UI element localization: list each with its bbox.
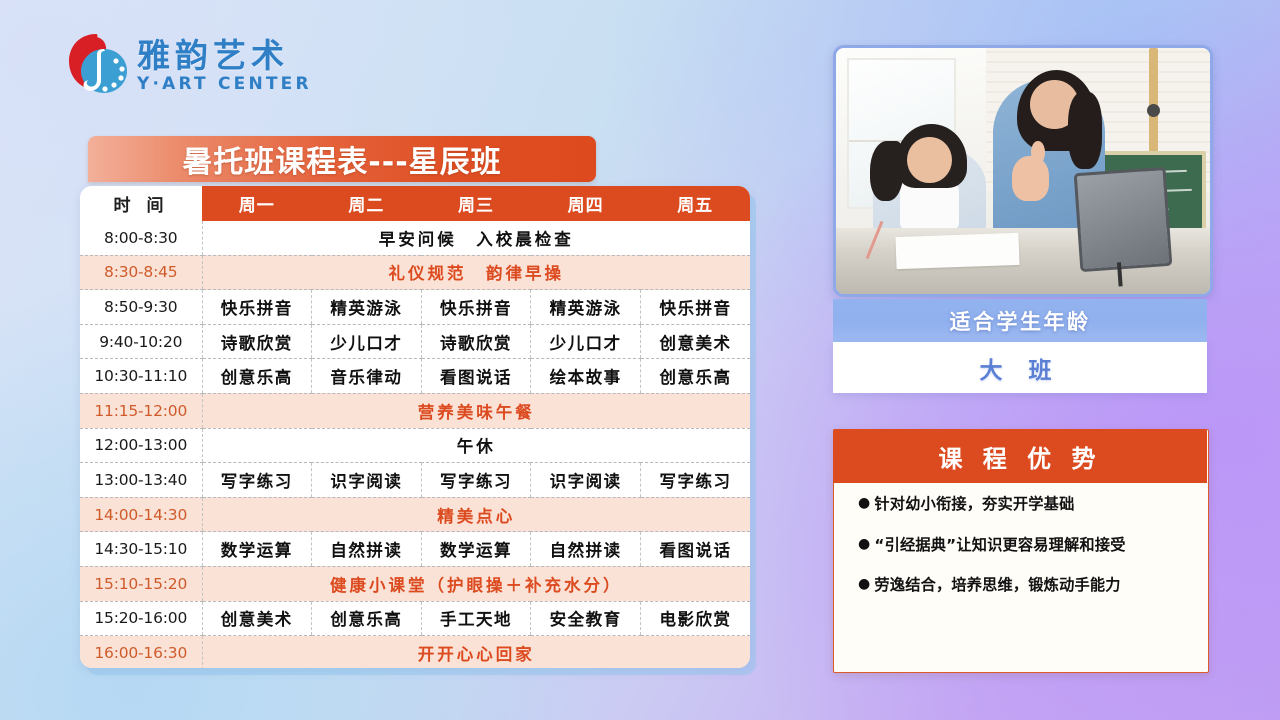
classroom-photo: [833, 45, 1213, 297]
photo-easel-pole: [1149, 48, 1158, 156]
schedule-card: 时 间 周一 周二 周三 周四 周五 8:00-8:30早安问候 入校晨检查8:…: [80, 186, 750, 668]
schedule-time-cell: 14:30-15:10: [80, 532, 202, 567]
schedule-time-cell: 8:50-9:30: [80, 290, 202, 325]
table-row: 13:00-13:40写字练习识字阅读写字练习识字阅读写字练习: [80, 463, 750, 498]
schedule-merged-cell: 礼仪规范 韵律早操: [202, 255, 750, 290]
advantage-item: ●劳逸结合，培养思维，锻炼动手能力: [858, 575, 1184, 596]
schedule-subject-cell: 写字练习: [421, 463, 531, 498]
schedule-subject-cell: 自然拼读: [312, 532, 422, 567]
photo-teacher-hair-side: [1068, 92, 1102, 168]
schedule-subject-cell: 少儿口才: [312, 324, 422, 359]
table-row: 10:30-11:10创意乐高音乐律动看图说话绘本故事创意乐高: [80, 359, 750, 394]
brand-name-cn: 雅韵艺术: [137, 39, 312, 72]
schedule-time-cell: 13:00-13:40: [80, 463, 202, 498]
schedule-time-cell: 14:00-14:30: [80, 497, 202, 532]
schedule-subject-cell: 绘本故事: [531, 359, 641, 394]
schedule-subject-cell: 诗歌欣赏: [202, 324, 312, 359]
table-row: 11:15-12:00营养美味午餐: [80, 393, 750, 428]
bullet-icon: ●: [858, 535, 870, 554]
schedule-merged-cell: 精美点心: [202, 497, 750, 532]
table-row: 8:50-9:30快乐拼音精英游泳快乐拼音精英游泳快乐拼音: [80, 290, 750, 325]
column-header-tue: 周二: [312, 186, 422, 221]
schedule-subject-cell: 快乐拼音: [640, 290, 750, 325]
table-row: 14:00-14:30精美点心: [80, 497, 750, 532]
table-row: 14:30-15:10数学运算自然拼读数学运算自然拼读看图说话: [80, 532, 750, 567]
brand-logo: 雅韵艺术 Y·ART CENTER: [66, 31, 312, 101]
table-row: 12:00-13:00午休: [80, 428, 750, 463]
schedule-subject-cell: 自然拼读: [531, 532, 641, 567]
photo-paper: [895, 233, 1019, 269]
schedule-time-cell: 12:00-13:00: [80, 428, 202, 463]
schedule-subject-cell: 看图说话: [421, 359, 531, 394]
schedule-subject-cell: 少儿口才: [531, 324, 641, 359]
schedule-time-cell: 11:15-12:00: [80, 393, 202, 428]
schedule-time-cell: 8:30-8:45: [80, 255, 202, 290]
table-row: 8:00-8:30早安问候 入校晨检查: [80, 221, 750, 255]
column-header-thu: 周四: [531, 186, 641, 221]
advantage-item-text: “引经据典”让知识更容易理解和接受: [874, 535, 1125, 556]
poster-title-banner: 暑托班课程表---星辰班: [88, 136, 596, 182]
schedule-subject-cell: 电影欣赏: [640, 601, 750, 636]
poster-canvas: 雅韵艺术 Y·ART CENTER 暑托班课程表---星辰班 时 间 周一 周二…: [0, 0, 1280, 720]
music-note-palette-logo-icon: [66, 31, 128, 101]
schedule-subject-cell: 写字练习: [640, 463, 750, 498]
schedule-subject-cell: 安全教育: [531, 601, 641, 636]
schedule-subject-cell: 创意美术: [202, 601, 312, 636]
advantages-title: 课 程 优 势: [938, 439, 1101, 474]
schedule-merged-cell: 营养美味午餐: [202, 393, 750, 428]
column-header-time: 时 间: [80, 186, 202, 221]
table-header-row: 时 间 周一 周二 周三 周四 周五: [80, 186, 750, 221]
bullet-icon: ●: [858, 494, 870, 513]
table-row: 15:10-15:20健康小课堂（护眼操＋补充水分）: [80, 566, 750, 601]
schedule-subject-cell: 写字练习: [202, 463, 312, 498]
photo-tablet: [1074, 167, 1173, 273]
brand-name-en: Y·ART CENTER: [137, 76, 312, 93]
schedule-merged-cell: 早安问候 入校晨检查: [202, 221, 750, 255]
schedule-subject-cell: 诗歌欣赏: [421, 324, 531, 359]
schedule-subject-cell: 手工天地: [421, 601, 531, 636]
schedule-merged-cell: 午休: [202, 428, 750, 463]
schedule-subject-cell: 快乐拼音: [202, 290, 312, 325]
bullet-icon: ●: [858, 575, 870, 594]
table-row: 8:30-8:45礼仪规范 韵律早操: [80, 255, 750, 290]
schedule-subject-cell: 数学运算: [421, 532, 531, 567]
schedule-subject-cell: 创意乐高: [202, 359, 312, 394]
schedule-subject-cell: 创意乐高: [312, 601, 422, 636]
advantages-list: ●针对幼小衔接，夯实开学基础●“引经据典”让知识更容易理解和接受●劳逸结合，培养…: [834, 494, 1208, 616]
schedule-time-cell: 10:30-11:10: [80, 359, 202, 394]
advantage-item: ●针对幼小衔接，夯实开学基础: [858, 494, 1184, 515]
advantage-item-text: 针对幼小衔接，夯实开学基础: [874, 494, 1074, 515]
schedule-subject-cell: 精英游泳: [531, 290, 641, 325]
schedule-table-body: 8:00-8:30早安问候 入校晨检查8:30-8:45礼仪规范 韵律早操8:5…: [80, 221, 750, 668]
table-row: 9:40-10:20诗歌欣赏少儿口才诗歌欣赏少儿口才创意美术: [80, 324, 750, 359]
age-panel-value-box: 大 班: [833, 342, 1207, 393]
schedule-time-cell: 16:00-16:30: [80, 636, 202, 668]
table-row: 16:00-16:30开开心心回家: [80, 636, 750, 668]
schedule-subject-cell: 快乐拼音: [421, 290, 531, 325]
age-panel-title: 适合学生年龄: [950, 306, 1091, 336]
advantage-item-text: 劳逸结合，培养思维，锻炼动手能力: [874, 575, 1120, 596]
age-panel-header: 适合学生年龄: [833, 299, 1207, 342]
schedule-time-cell: 15:20-16:00: [80, 601, 202, 636]
advantage-item: ●“引经据典”让知识更容易理解和接受: [858, 535, 1184, 556]
schedule-time-cell: 8:00-8:30: [80, 221, 202, 255]
schedule-subject-cell: 精英游泳: [312, 290, 422, 325]
schedule-time-cell: 9:40-10:20: [80, 324, 202, 359]
brand-wordmark: 雅韵艺术 Y·ART CENTER: [137, 39, 312, 93]
table-row: 15:20-16:00创意美术创意乐高手工天地安全教育电影欣赏: [80, 601, 750, 636]
schedule-subject-cell: 识字阅读: [312, 463, 422, 498]
schedule-table-head: 时 间 周一 周二 周三 周四 周五: [80, 186, 750, 221]
age-panel-value: 大 班: [979, 351, 1060, 385]
schedule-merged-cell: 开开心心回家: [202, 636, 750, 668]
schedule-table: 时 间 周一 周二 周三 周四 周五 8:00-8:30早安问候 入校晨检查8:…: [80, 186, 750, 668]
photo-student-face: [907, 137, 952, 184]
schedule-subject-cell: 识字阅读: [531, 463, 641, 498]
column-header-fri: 周五: [640, 186, 750, 221]
column-header-mon: 周一: [202, 186, 312, 221]
column-header-wed: 周三: [421, 186, 531, 221]
schedule-subject-cell: 创意乐高: [640, 359, 750, 394]
schedule-subject-cell: 看图说话: [640, 532, 750, 567]
schedule-subject-cell: 数学运算: [202, 532, 312, 567]
schedule-subject-cell: 创意美术: [640, 324, 750, 359]
schedule-merged-cell: 健康小课堂（护眼操＋补充水分）: [202, 566, 750, 601]
photo-scene: [836, 48, 1210, 294]
photo-thumbs-up-hand: [1012, 156, 1049, 200]
advantages-header: 课 程 优 势: [833, 429, 1207, 483]
page-title: 暑托班课程表---星辰班: [182, 137, 501, 181]
schedule-subject-cell: 音乐律动: [312, 359, 422, 394]
advantages-card: 课 程 优 势 ●针对幼小衔接，夯实开学基础●“引经据典”让知识更容易理解和接受…: [833, 429, 1209, 673]
schedule-time-cell: 15:10-15:20: [80, 566, 202, 601]
